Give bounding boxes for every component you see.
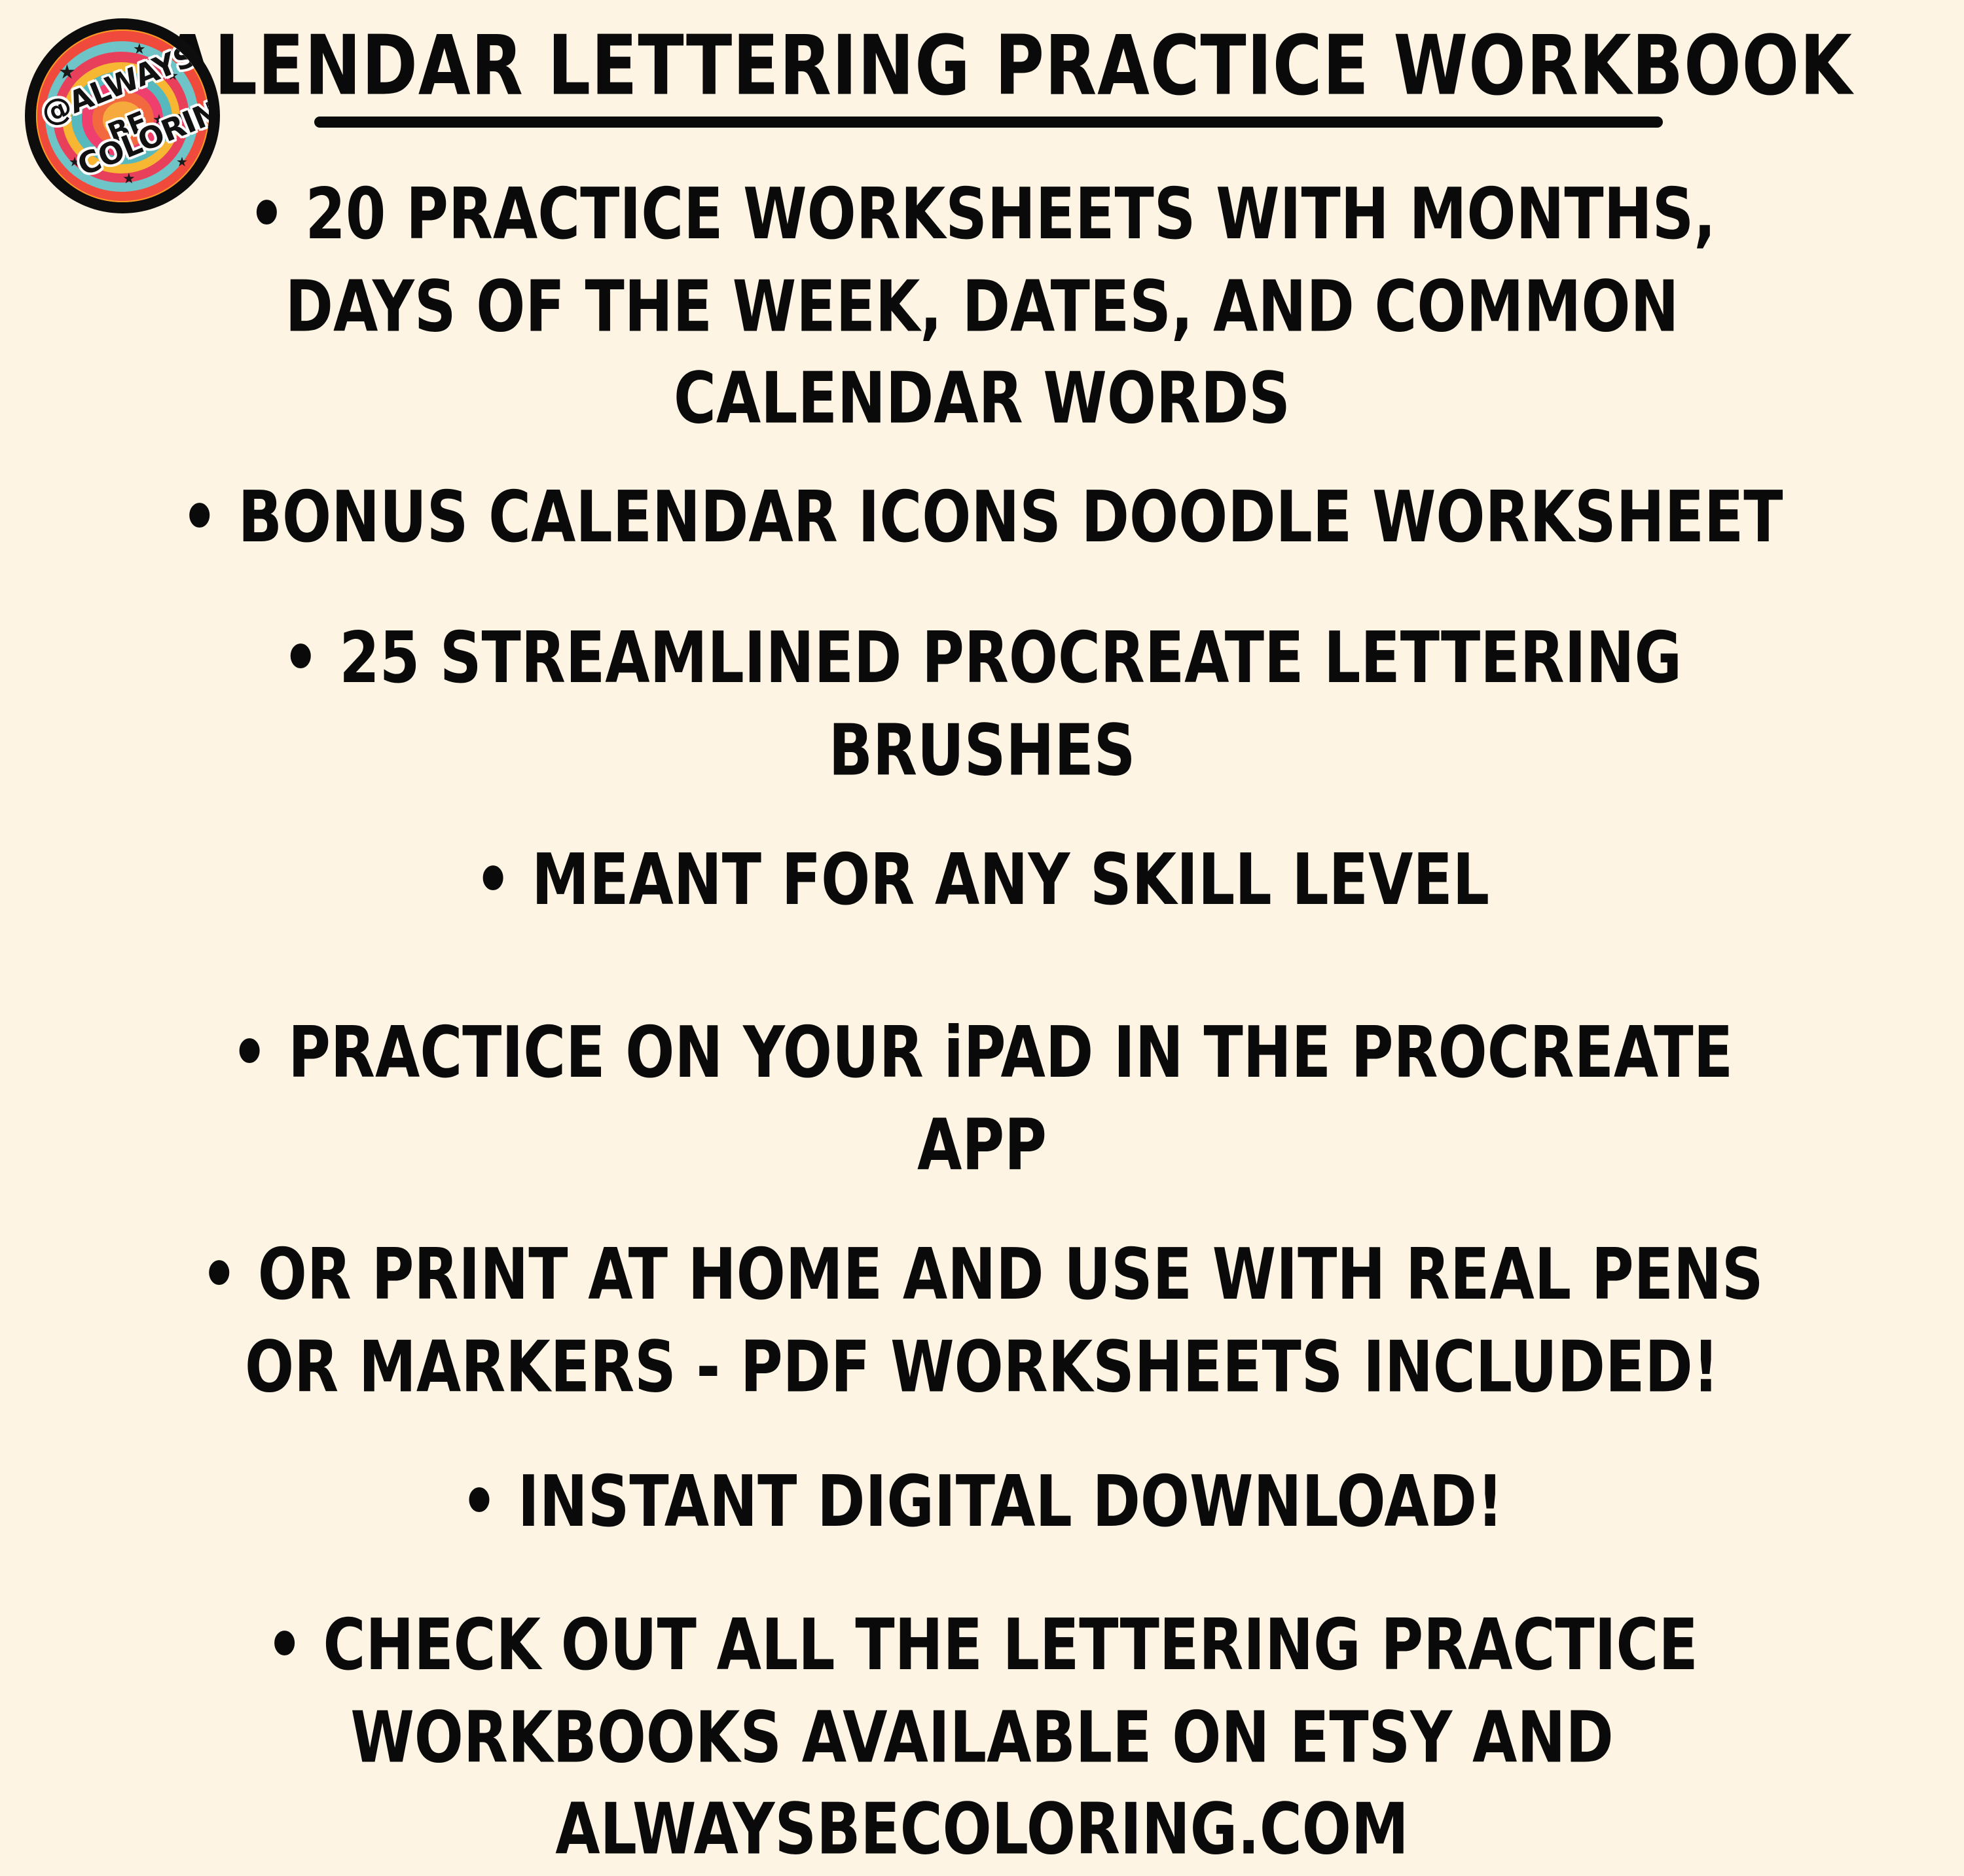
list-item: • INSTANT DIGITAL DOWNLOAD! <box>69 1456 1895 1549</box>
bullet-text: • OR PRINT AT HOME AND USE WITH REAL PEN… <box>200 1233 1763 1407</box>
list-item: • MEANT FOR ANY SKILL LEVEL <box>69 835 1895 927</box>
logo-wordmark: @ALWAYS BE COLORING <box>36 29 209 202</box>
bullet-text: • BONUS CALENDAR ICONS DOODLE WORKSHEET <box>181 476 1783 558</box>
list-item: • BONUS CALENDAR ICONS DOODLE WORKSHEET <box>69 472 1895 564</box>
bullet-text: • 20 PRACTICE WORKSHEETS WITH MONTHS, DA… <box>248 173 1716 440</box>
always-be-coloring-logo: ★ ★ ★ ★ ★ ★ ★ ★ ★ ★ @ALWAYS BE COLORING <box>25 18 220 213</box>
header: CALENDAR LETTERING PRACTICE WORKBOOK <box>0 25 1964 98</box>
product-feature-graphic: ★ ★ ★ ★ ★ ★ ★ ★ ★ ★ @ALWAYS BE COLORING … <box>0 0 1964 1571</box>
page-title: CALENDAR LETTERING PRACTICE WORKBOOK <box>79 25 1885 107</box>
list-item: • OR PRINT AT HOME AND USE WITH REAL PEN… <box>69 1229 1895 1414</box>
list-item: • 20 PRACTICE WORKSHEETS WITH MONTHS, DA… <box>69 169 1895 445</box>
list-item: • 25 STREAMLINED PROCREATE LETTERING BRU… <box>69 613 1895 797</box>
logo-spiral-artwork: ★ ★ ★ ★ ★ ★ ★ ★ ★ ★ @ALWAYS BE COLORING <box>36 29 209 202</box>
bullet-text: • INSTANT DIGITAL DOWNLOAD! <box>461 1460 1504 1542</box>
bullet-text: • 25 STREAMLINED PROCREATE LETTERING BRU… <box>282 617 1682 791</box>
list-item: • PRACTICE ON YOUR iPAD IN THE PROCREATE… <box>69 1007 1895 1192</box>
feature-bullet-list: • 20 PRACTICE WORKSHEETS WITH MONTHS, DA… <box>0 169 1964 1843</box>
bullet-text: • CHECK OUT ALL THE LETTERING PRACTICE W… <box>266 1604 1698 1871</box>
bullet-text: • PRACTICE ON YOUR iPAD IN THE PROCREATE… <box>231 1011 1733 1185</box>
title-underline-rule <box>314 117 1663 128</box>
list-item: • CHECK OUT ALL THE LETTERING PRACTICE W… <box>69 1600 1895 1876</box>
bullet-text: • MEANT FOR ANY SKILL LEVEL <box>475 839 1489 921</box>
